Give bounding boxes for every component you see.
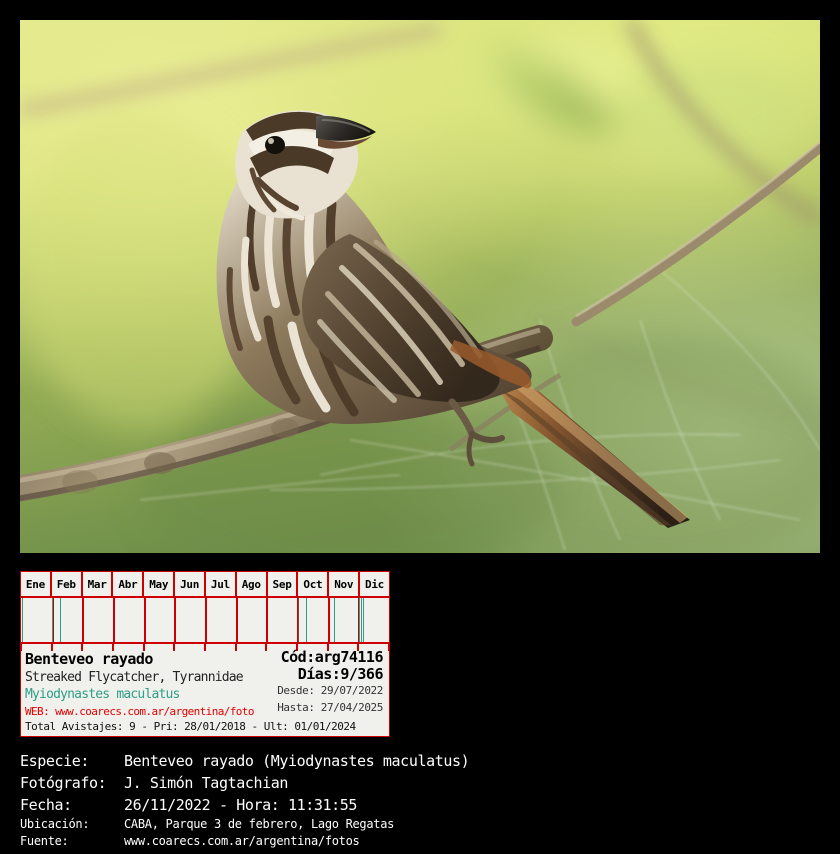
calendar-sighting-bar	[298, 598, 299, 642]
date-to-label: Hasta: 27/04/2025	[277, 700, 383, 716]
bird-eye	[265, 136, 285, 154]
metadata-row: Fecha:26/11/2022 - Hora: 11:31:55	[20, 794, 820, 816]
calendar-month-divider	[82, 598, 84, 642]
metadata-value: J. Simón Tagtachian	[124, 772, 820, 794]
calendar-month-nov: Nov	[329, 572, 360, 596]
days-label: Días:9/366	[298, 666, 383, 683]
metadata-label: Fotógrafo:	[20, 772, 124, 794]
date-from-label: Desde: 29/07/2022	[277, 683, 383, 699]
web-link[interactable]: WEB: www.coarecs.com.ar/argentina/foto	[25, 705, 254, 718]
calendar-month-jul: Jul	[206, 572, 237, 596]
bird-photograph	[20, 20, 820, 553]
metadata-row: Fuente:www.coarecs.com.ar/argentina/foto…	[20, 833, 820, 850]
calendar-month-divider	[266, 598, 268, 642]
calendar-month-ago: Ago	[237, 572, 268, 596]
calendar-sighting-bar	[22, 598, 23, 642]
totals-label: Total Avistajes: 9 - Pri: 28/01/2018 - U…	[25, 717, 385, 734]
calendar-month-mar: Mar	[83, 572, 114, 596]
code-label: Cód:arg74116	[281, 649, 383, 666]
record-card-page: EneFebMarAbrMayJunJulAgoSepOctNovDic Ben…	[0, 0, 840, 854]
metadata-row: Ubicación:CABA, Parque 3 de febrero, Lag…	[20, 816, 820, 833]
metadata-value: www.coarecs.com.ar/argentina/fotos	[124, 833, 820, 850]
species-record-panel: EneFebMarAbrMayJunJulAgoSepOctNovDic Ben…	[20, 571, 390, 737]
photo-metadata: Especie:Benteveo rayado (Myiodynastes ma…	[20, 750, 820, 850]
metadata-row: Especie:Benteveo rayado (Myiodynastes ma…	[20, 750, 820, 772]
calendar-month-abr: Abr	[113, 572, 144, 596]
calendar-month-divider	[144, 598, 146, 642]
calendar-month-oct: Oct	[298, 572, 329, 596]
metadata-label: Especie:	[20, 750, 124, 772]
calendar-month-divider	[328, 598, 330, 642]
calendar-sighting-bar	[361, 598, 362, 642]
calendar-month-feb: Feb	[52, 572, 83, 596]
metadata-label: Fecha:	[20, 794, 124, 816]
calendar-month-header: EneFebMarAbrMayJunJulAgoSepOctNovDic	[21, 572, 389, 598]
calendar-sighting-area	[21, 598, 389, 644]
record-text-block: Benteveo rayado Cód:arg74116 Streaked Fl…	[21, 646, 389, 734]
metadata-label: Fuente:	[20, 833, 124, 850]
calendar-month-may: May	[144, 572, 175, 596]
metadata-value: 26/11/2022 - Hora: 11:31:55	[124, 794, 820, 816]
metadata-row: Fotógrafo:J. Simón Tagtachian	[20, 772, 820, 794]
calendar-month-divider	[205, 598, 207, 642]
calendar-sighting-bar	[306, 598, 307, 642]
metadata-value: CABA, Parque 3 de febrero, Lago Regatas	[124, 816, 820, 833]
calendar-month-divider	[236, 598, 238, 642]
calendar-sighting-bar	[52, 598, 53, 642]
calendar-sighting-bar	[60, 598, 61, 642]
calendar-sighting-bar	[363, 598, 364, 642]
calendar-month-dic: Dic	[360, 572, 389, 596]
bird-eye-highlight	[268, 138, 274, 144]
calendar-month-divider	[113, 598, 115, 642]
calendar-month-sep: Sep	[268, 572, 299, 596]
calendar-month-jun: Jun	[175, 572, 206, 596]
photo-canvas	[20, 20, 820, 553]
calendar-month-divider	[174, 598, 176, 642]
sighting-calendar: EneFebMarAbrMayJunJulAgoSepOctNovDic	[21, 572, 389, 646]
calendar-sighting-bar	[359, 598, 360, 642]
calendar-sighting-bar	[334, 598, 335, 642]
metadata-value: Benteveo rayado (Myiodynastes maculatus)	[124, 750, 820, 772]
calendar-month-ene: Ene	[21, 572, 52, 596]
metadata-label: Ubicación:	[20, 816, 124, 833]
